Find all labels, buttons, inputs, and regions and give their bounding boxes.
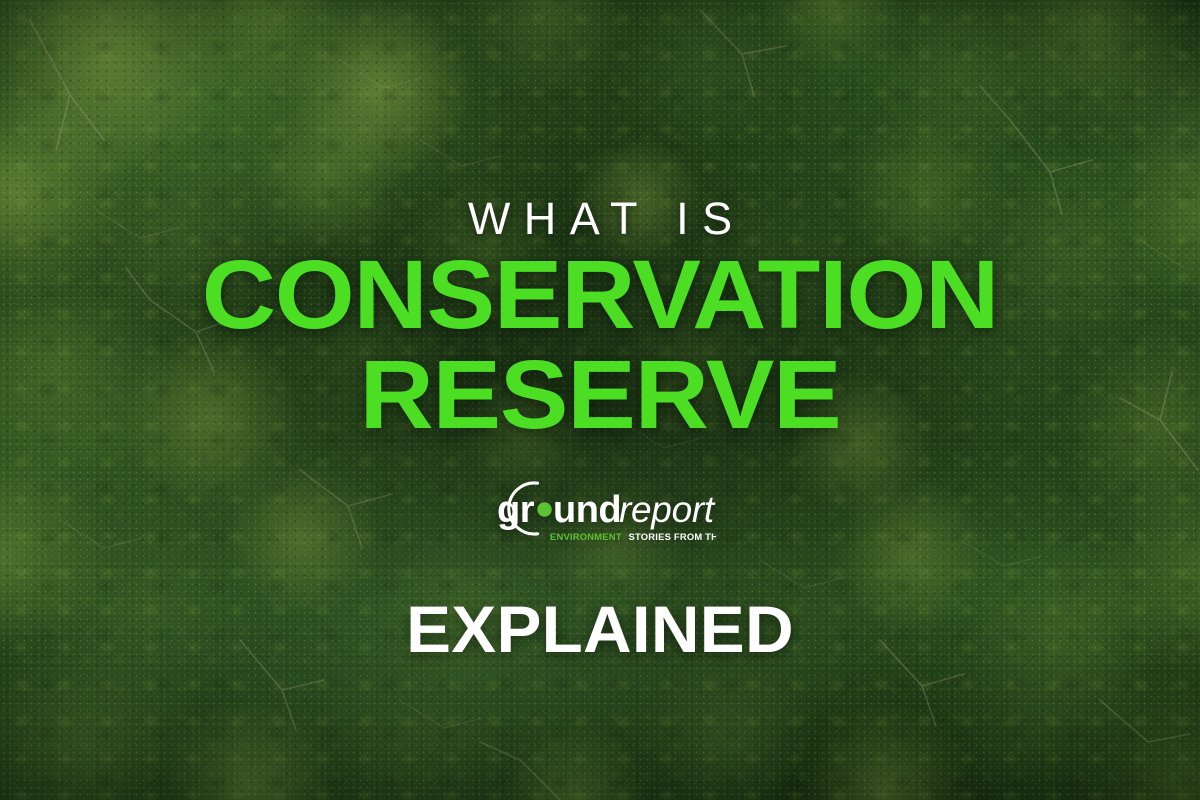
logo-tagline-accent: ENVIRONMENT bbox=[550, 531, 622, 542]
poster-text-overlay: WHAT IS CONSERVATION RESERVE gr und repo… bbox=[0, 0, 1200, 800]
kicker-explained: EXPLAINED bbox=[0, 596, 1200, 662]
logo-word-report: report bbox=[619, 489, 716, 530]
logo-dot-icon bbox=[537, 502, 551, 516]
logo-tagline: ENVIRONMENT STORIES FROM THE MARGINS bbox=[550, 531, 716, 542]
logo-tagline-rest: STORIES FROM THE MARGINS bbox=[629, 531, 716, 542]
logo-word-gr: gr bbox=[497, 489, 535, 531]
headline-line-1: CONSERVATION bbox=[0, 248, 1200, 341]
logo-word-und: und bbox=[553, 489, 621, 531]
headline-line-2: RESERVE bbox=[0, 348, 1200, 441]
poster-canvas: WHAT IS CONSERVATION RESERVE gr und repo… bbox=[0, 0, 1200, 800]
ground-report-logo[interactable]: gr und report ENVIRONMENT STORIES FROM T… bbox=[484, 478, 716, 552]
eyebrow-what-is: WHAT IS bbox=[0, 196, 1200, 241]
